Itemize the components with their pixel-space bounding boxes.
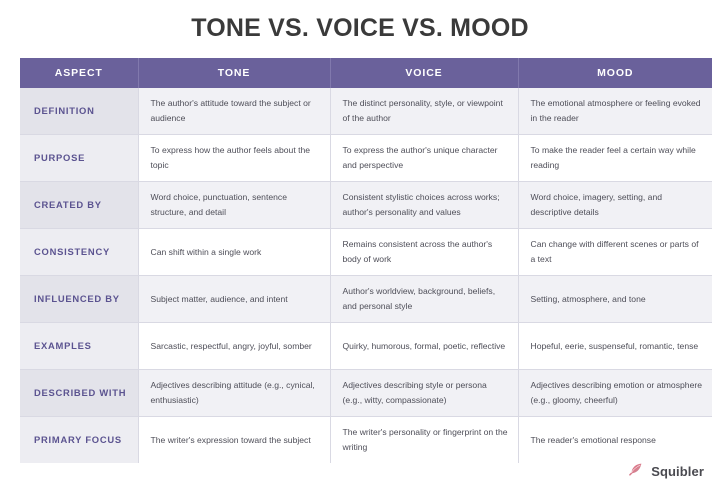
row-tone-cell: Sarcastic, respectful, angry, joyful, so… xyxy=(138,323,330,370)
comparison-table: ASPECT TONE VOICE MOOD DEFINITION The au… xyxy=(20,58,712,463)
comparison-table-container: ASPECT TONE VOICE MOOD DEFINITION The au… xyxy=(20,58,712,463)
row-aspect-label: CONSISTENCY xyxy=(20,229,138,276)
column-header-aspect: ASPECT xyxy=(20,58,138,88)
row-tone-cell: The author's attitude toward the subject… xyxy=(138,88,330,135)
quill-icon xyxy=(626,462,644,480)
table-row: PRIMARY FOCUS The writer's expression to… xyxy=(20,417,712,464)
row-voice-cell: To express the author's unique character… xyxy=(330,135,518,182)
infographic-page: TONE VS. VOICE VS. MOOD ASPECT TONE VOIC… xyxy=(0,0,720,492)
row-aspect-label: INFLUENCED BY xyxy=(20,276,138,323)
row-aspect-label: DESCRIBED WITH xyxy=(20,370,138,417)
row-mood-cell: Setting, atmosphere, and tone xyxy=(518,276,712,323)
table-header-row: ASPECT TONE VOICE MOOD xyxy=(20,58,712,88)
column-header-tone: TONE xyxy=(138,58,330,88)
row-aspect-label: EXAMPLES xyxy=(20,323,138,370)
row-tone-cell: The writer's expression toward the subje… xyxy=(138,417,330,464)
row-mood-cell: Hopeful, eerie, suspenseful, romantic, t… xyxy=(518,323,712,370)
row-voice-cell: Author's worldview, background, beliefs,… xyxy=(330,276,518,323)
row-mood-cell: Adjectives describing emotion or atmosph… xyxy=(518,370,712,417)
row-aspect-label: PRIMARY FOCUS xyxy=(20,417,138,464)
table-row: INFLUENCED BY Subject matter, audience, … xyxy=(20,276,712,323)
table-row: CONSISTENCY Can shift within a single wo… xyxy=(20,229,712,276)
row-voice-cell: The writer's personality or fingerprint … xyxy=(330,417,518,464)
table-row: PURPOSE To express how the author feels … xyxy=(20,135,712,182)
row-tone-cell: Can shift within a single work xyxy=(138,229,330,276)
row-tone-cell: Word choice, punctuation, sentence struc… xyxy=(138,182,330,229)
column-header-voice: VOICE xyxy=(330,58,518,88)
table-row: CREATED BY Word choice, punctuation, sen… xyxy=(20,182,712,229)
row-aspect-label: DEFINITION xyxy=(20,88,138,135)
row-mood-cell: The emotional atmosphere or feeling evok… xyxy=(518,88,712,135)
row-tone-cell: Adjectives describing attitude (e.g., cy… xyxy=(138,370,330,417)
row-mood-cell: To make the reader feel a certain way wh… xyxy=(518,135,712,182)
row-tone-cell: To express how the author feels about th… xyxy=(138,135,330,182)
row-mood-cell: The reader's emotional response xyxy=(518,417,712,464)
row-voice-cell: Quirky, humorous, formal, poetic, reflec… xyxy=(330,323,518,370)
brand-logo: Squibler xyxy=(626,462,704,480)
row-aspect-label: PURPOSE xyxy=(20,135,138,182)
row-aspect-label: CREATED BY xyxy=(20,182,138,229)
row-voice-cell: Adjectives describing style or persona (… xyxy=(330,370,518,417)
row-voice-cell: Remains consistent across the author's b… xyxy=(330,229,518,276)
brand-name: Squibler xyxy=(651,464,704,479)
row-voice-cell: Consistent stylistic choices across work… xyxy=(330,182,518,229)
row-mood-cell: Word choice, imagery, setting, and descr… xyxy=(518,182,712,229)
row-mood-cell: Can change with different scenes or part… xyxy=(518,229,712,276)
table-row: DESCRIBED WITH Adjectives describing att… xyxy=(20,370,712,417)
column-header-mood: MOOD xyxy=(518,58,712,88)
row-voice-cell: The distinct personality, style, or view… xyxy=(330,88,518,135)
table-body: DEFINITION The author's attitude toward … xyxy=(20,88,712,463)
row-tone-cell: Subject matter, audience, and intent xyxy=(138,276,330,323)
table-row: DEFINITION The author's attitude toward … xyxy=(20,88,712,135)
table-row: EXAMPLES Sarcastic, respectful, angry, j… xyxy=(20,323,712,370)
table-header: ASPECT TONE VOICE MOOD xyxy=(20,58,712,88)
page-title: TONE VS. VOICE VS. MOOD xyxy=(0,14,720,43)
